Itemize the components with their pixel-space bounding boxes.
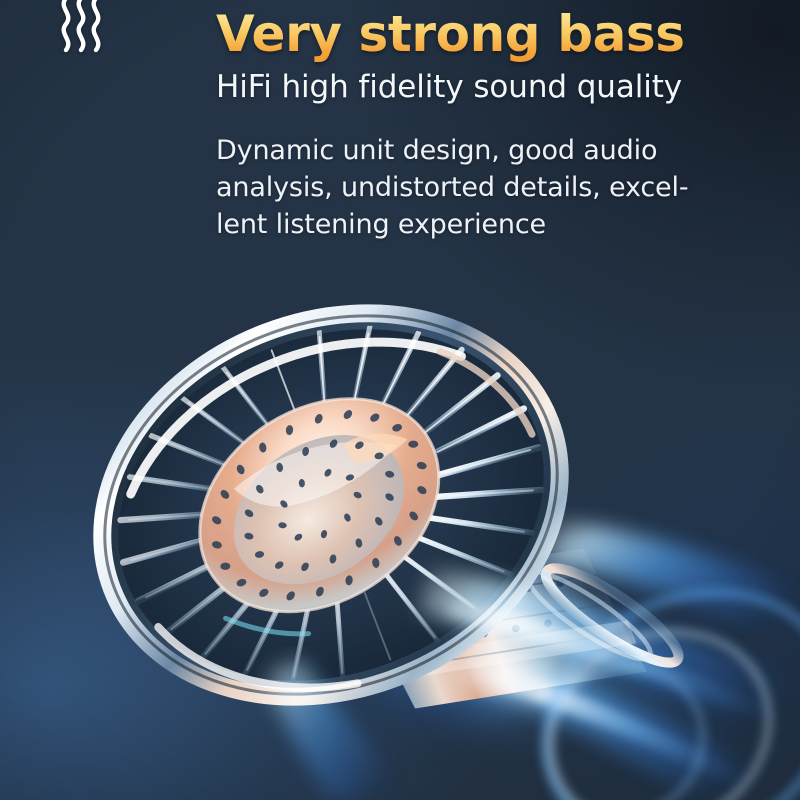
product-banner: Very strong bass HiFi high fidelity soun… — [0, 0, 800, 800]
copy-block: Very strong bass HiFi high fidelity soun… — [216, 0, 782, 243]
page-title: Very strong bass — [216, 0, 782, 62]
sound-waves-icon — [50, 0, 112, 68]
page-subtitle: HiFi high fidelity sound quality — [216, 69, 782, 106]
body-description: Dynamic unit design, good audio analysis… — [216, 132, 782, 244]
